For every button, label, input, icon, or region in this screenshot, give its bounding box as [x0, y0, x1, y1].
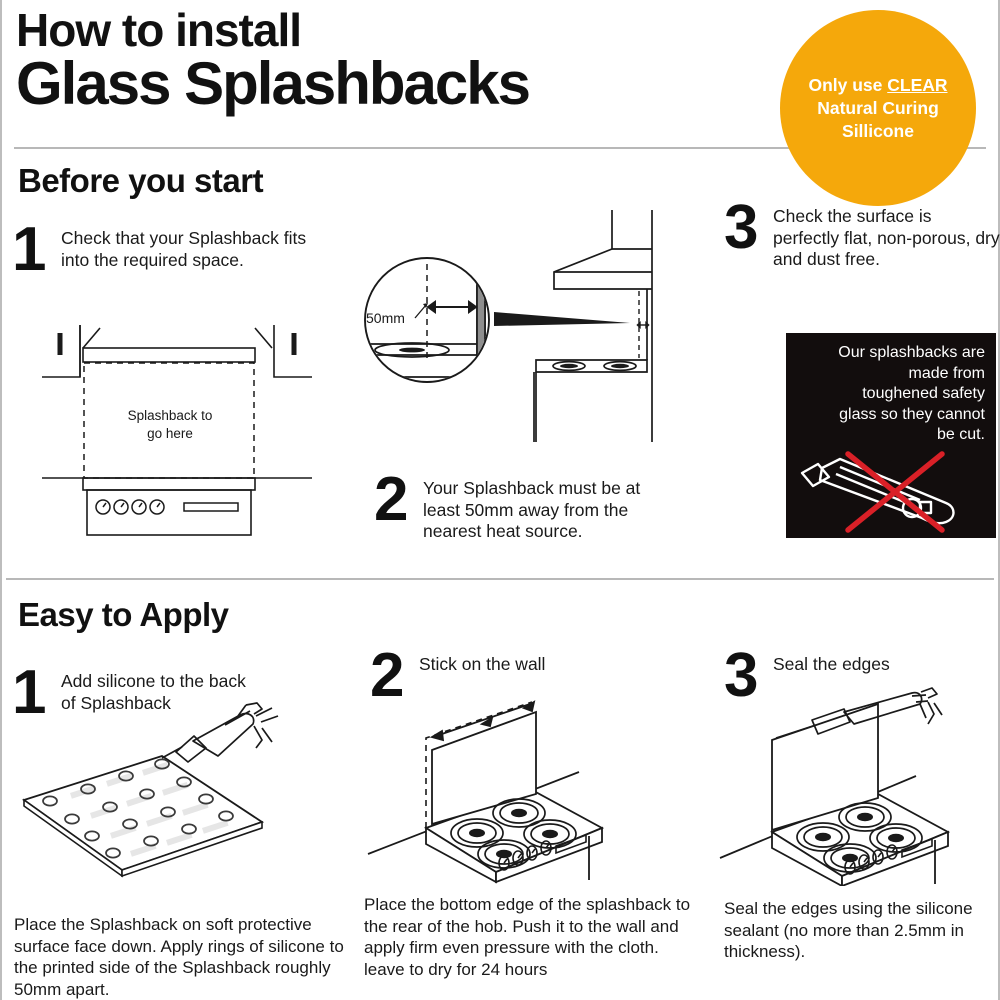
clear-silicone-badge: Only use CLEAR Natural Curing Sillicone	[780, 10, 976, 206]
caption-apply-2: Place the bottom edge of the splashback …	[364, 894, 694, 980]
page-title: How to install Glass Splashbacks	[16, 4, 529, 116]
badge-line-1-pre: Only use	[808, 75, 887, 95]
step-before-2: 2 Your Splashback must be at least 50mm …	[374, 472, 674, 543]
step-before-3: 3 Check the surface is perfectly flat, n…	[724, 200, 1000, 271]
title-line-2: Glass Splashbacks	[16, 52, 529, 116]
section-heading-easy-to-apply: Easy to Apply	[18, 596, 229, 634]
label-50mm-dimension: 50mm	[366, 310, 405, 326]
step-before-1: 1 Check that your Splashback fits into t…	[12, 222, 312, 278]
poster-page: How to install Glass Splashbacks Only us…	[0, 0, 1000, 1000]
step-before-3-number: 3	[724, 200, 764, 256]
warning-panel-text: Our splashbacks are made from toughened …	[797, 343, 985, 446]
warning-line-4: glass so they cannot	[797, 405, 985, 426]
step-before-1-number: 1	[12, 222, 52, 278]
figure-apply-silicone-rings	[10, 700, 330, 900]
figure-seal-the-edges	[716, 668, 1000, 886]
utility-knife-crossed-out-icon	[796, 446, 986, 534]
badge-line-1-underlined: CLEAR	[887, 75, 947, 95]
label-splashback-placeholder-line2: go here	[147, 426, 193, 441]
warning-line-2: made from	[797, 364, 985, 385]
caption-apply-3: Seal the edges using the silicone sealan…	[724, 898, 999, 963]
step-before-3-text: Check the surface is perfectly flat, non…	[764, 200, 1000, 271]
label-splashback-placeholder-line1: Splashback to	[128, 408, 213, 423]
title-line-1: How to install	[16, 4, 529, 56]
warning-line-1: Our splashbacks are	[797, 343, 985, 364]
badge-text: Only use CLEAR Natural Curing Sillicone	[786, 74, 971, 143]
warning-line-5: be cut.	[797, 425, 985, 446]
step-before-2-text: Your Splashback must be at least 50mm aw…	[414, 472, 674, 543]
caption-apply-1: Place the Splashback on soft protective …	[14, 914, 344, 1000]
step-before-1-text: Check that your Splashback fits into the…	[52, 222, 312, 271]
badge-line-2: Natural Curing	[817, 98, 939, 118]
figure-50mm-heat-clearance: 50mm	[354, 192, 684, 442]
warning-line-3: toughened safety	[797, 384, 985, 405]
section-heading-before-you-start: Before you start	[18, 162, 263, 200]
step-before-2-number: 2	[374, 472, 414, 528]
divider-mid	[6, 578, 994, 580]
figure-stick-on-wall	[364, 668, 684, 886]
figure-splashback-fits-space: Splashback to go here	[32, 320, 322, 540]
warning-panel-cannot-be-cut: Our splashbacks are made from toughened …	[786, 333, 996, 538]
badge-line-3: Sillicone	[842, 121, 914, 141]
